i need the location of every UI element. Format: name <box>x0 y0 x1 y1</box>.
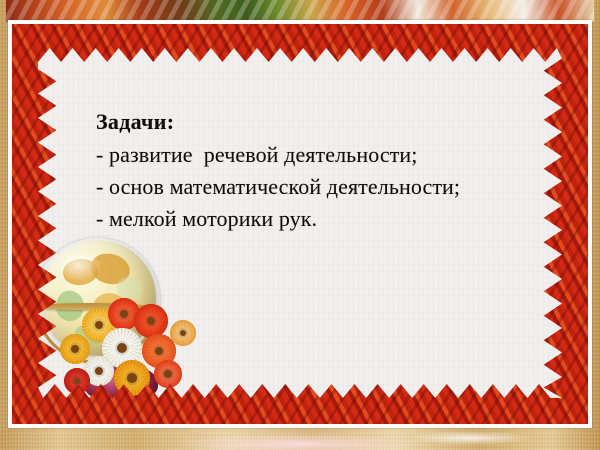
list-item: - развитие речевой деятельности; <box>96 139 566 171</box>
flower-petals <box>60 334 90 364</box>
autumn-photo-strip <box>6 0 594 22</box>
flower-basket-detail <box>98 370 132 396</box>
list-item: - мелкой моторики рук. <box>96 203 566 235</box>
flower-icon <box>142 334 176 368</box>
flower-petals <box>108 298 140 330</box>
globe-equator-ring <box>34 303 146 310</box>
slide-canvas: Задачи: - развитие речевой деятельности;… <box>0 0 600 450</box>
flower-icon <box>134 304 168 338</box>
flower-icon <box>60 334 90 364</box>
gerbera-flower-bouquet <box>58 294 268 404</box>
continent-shape <box>89 251 132 286</box>
globe-sphere <box>40 240 156 356</box>
flower-icon <box>170 320 196 346</box>
flower-petals <box>170 320 196 346</box>
flower-petals <box>82 308 116 342</box>
text-block: Задачи: - развитие речевой деятельности;… <box>96 106 566 235</box>
flower-petals <box>142 334 176 368</box>
flower-basket <box>84 364 158 402</box>
flower-icon <box>114 360 150 396</box>
slide-content-area: Задачи: - развитие речевой деятельности;… <box>38 48 562 398</box>
continent-shape <box>52 287 88 324</box>
list-item: - основ математической деятельности; <box>96 171 566 203</box>
flower-icon <box>82 308 116 342</box>
flower-icon <box>102 328 142 368</box>
flower-icon <box>64 368 90 394</box>
white-mat-border: Задачи: - развитие речевой деятельности;… <box>8 20 592 428</box>
flower-petals <box>134 304 168 338</box>
flower-petals <box>114 360 150 396</box>
globe-icon <box>32 236 160 364</box>
flower-icon <box>84 356 114 386</box>
globe-highlight <box>62 254 102 282</box>
page-title: Задачи: <box>96 106 566 138</box>
content-area-wrapper: Задачи: - развитие речевой деятельности;… <box>38 48 562 398</box>
flower-petals <box>102 328 142 368</box>
flower-petals <box>84 356 114 386</box>
flower-icon <box>108 298 140 330</box>
flower-petals <box>64 368 90 394</box>
continent-shape <box>117 277 143 300</box>
flower-petals <box>154 360 182 388</box>
globe-axis-ring <box>15 219 179 383</box>
frame-light-sheen <box>0 428 600 450</box>
continent-shape <box>92 292 130 330</box>
flower-icon <box>154 360 182 388</box>
continent-shape <box>61 255 100 287</box>
autumn-maple-leaf-border: Задачи: - развитие речевой деятельности;… <box>12 24 588 424</box>
continent-shape <box>75 324 114 345</box>
